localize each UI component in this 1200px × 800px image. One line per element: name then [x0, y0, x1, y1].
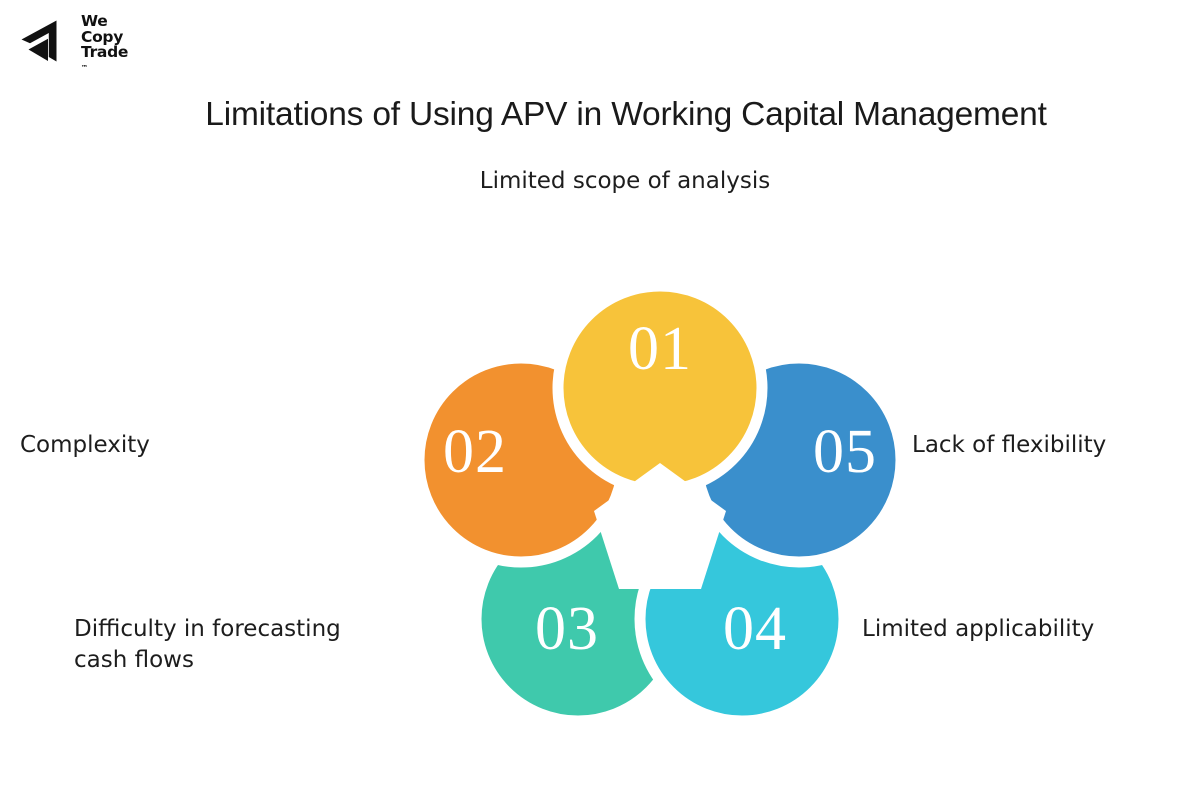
petal-label-03: Difficulty in forecasting cash flows	[74, 614, 341, 676]
petal-venn-diagram: 03 04 02 05 01	[385, 283, 935, 723]
page-title: Limitations of Using APV in Working Capi…	[0, 96, 1200, 134]
logo-wordmark: We Copy Trade™	[81, 14, 128, 79]
petal-number-02: 02	[443, 418, 507, 486]
petal-number-04: 04	[723, 595, 787, 663]
brand-logo[interactable]: We Copy Trade™	[18, 14, 193, 78]
petal-number-05: 05	[813, 418, 877, 486]
petal-label-05: Lack of flexibility	[912, 430, 1106, 461]
petal-circle-01[interactable]: 01	[558, 286, 762, 490]
petal-number-01: 01	[628, 315, 692, 383]
chevron-arrow-logo-icon	[18, 18, 74, 74]
petal-number-03: 03	[535, 595, 599, 663]
logo-line-3: Trade™	[81, 45, 128, 79]
petal-label-02: Complexity	[20, 430, 150, 461]
petal-label-01: Limited scope of analysis	[0, 166, 1200, 197]
trademark-symbol: ™	[81, 64, 88, 72]
